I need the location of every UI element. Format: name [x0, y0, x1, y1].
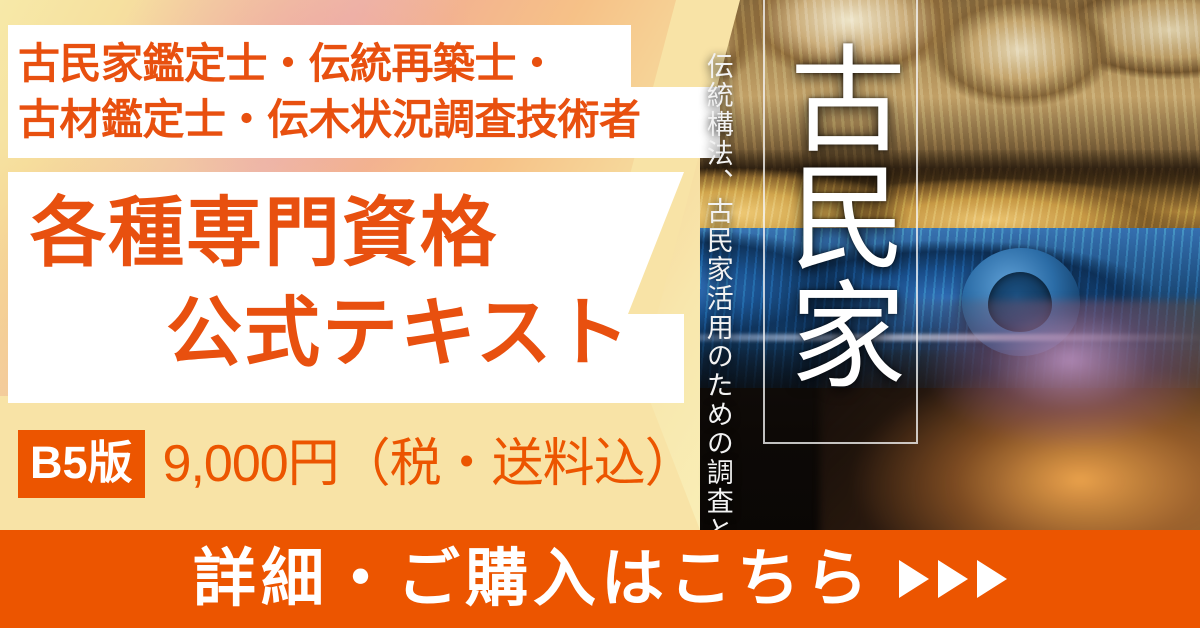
cta-arrows: [899, 560, 1007, 598]
qualifications-box: 古民家鑑定士・伝統再築士・ 古材鑑定士・伝木状況調査技術者: [8, 25, 720, 158]
triangle-right-icon: [938, 560, 968, 598]
promo-banner: 古民家 伝統構法、古民家活用のための調査と再生の 古民家鑑定士・伝統再築士・ 古…: [0, 0, 1200, 628]
book-cover-title: 古民家: [773, 6, 903, 426]
qualifications-line-1: 古民家鑑定士・伝統再築士・: [18, 43, 558, 85]
price-amount: 9,000円（税・送料込）: [163, 438, 696, 490]
headline-box: 各種専門資格 公式テキスト: [8, 172, 688, 403]
triangle-right-icon: [899, 560, 929, 598]
cta-label: 詳細・ご購入はこちら: [193, 548, 873, 611]
cta-button[interactable]: 詳細・ご購入はこちら: [0, 530, 1200, 628]
headline-line-2: 公式テキスト: [166, 296, 632, 372]
qualifications-line-2: 古材鑑定士・伝木状況調査技術者: [18, 99, 641, 141]
headline-line-1: 各種専門資格: [30, 196, 498, 272]
size-badge: B5版: [18, 430, 145, 498]
price-row: B5版 9,000円（税・送料込）: [18, 430, 696, 498]
triangle-right-icon: [977, 560, 1007, 598]
